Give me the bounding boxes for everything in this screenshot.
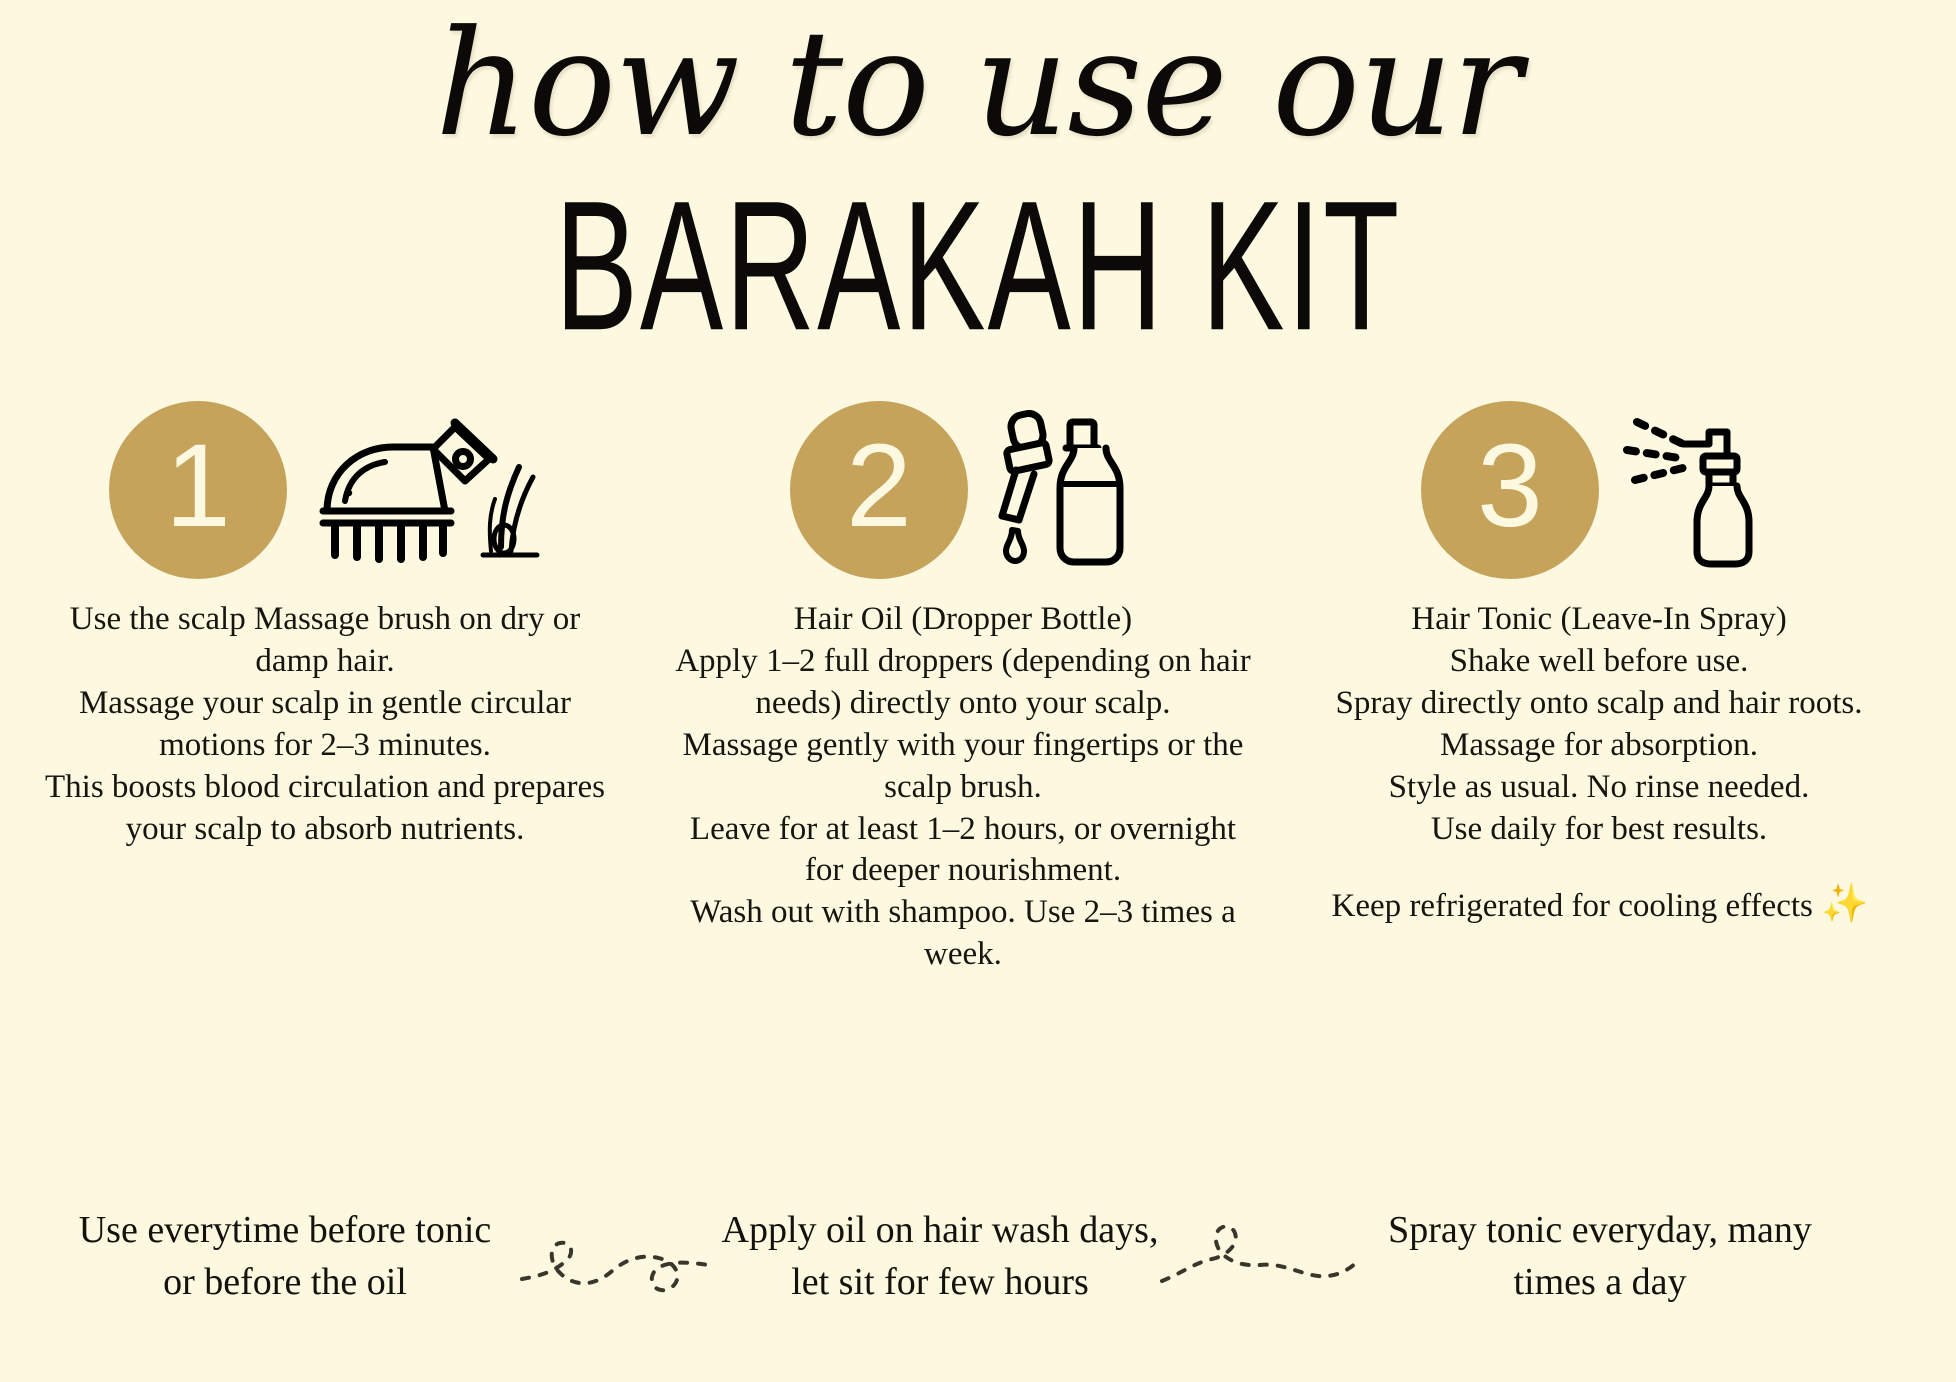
step-column-1: 1 [10,405,640,976]
spray-bottle-icon [1617,410,1777,570]
footer-caption-1: Use everytime before tonic or before the… [75,1205,495,1308]
step-number-badge-3: 3 [1421,401,1599,579]
step-3-body-note: Keep refrigerated for cooling effects ✨ [1310,880,1888,928]
dropper-bottle-icon [986,410,1136,570]
step-1-body: Use the scalp Massage brush on dry or da… [36,599,614,850]
title-script-line: how to use our [0,10,1956,159]
step-column-3: 3 [1284,405,1914,976]
step-1-header: 1 [36,405,614,575]
step-number-label-2: 2 [846,427,912,545]
footer-row: Use everytime before tonic or before the… [0,1205,1956,1365]
step-3-note-text: Keep refrigerated for cooling effects [1332,888,1822,924]
footer-caption-2: Apply oil on hair wash days, let sit for… [710,1205,1170,1308]
sparkles-icon: ✨ [1821,883,1866,925]
step-number-label-3: 3 [1477,427,1543,545]
title-display-line: BARAKAH KIT [39,173,1917,358]
step-number-badge-1: 1 [109,401,287,579]
infographic-page: how to use our BARAKAH KIT 1 [0,0,1956,1382]
step-2-header: 2 [674,405,1252,575]
dotted-squiggle-connector [1160,1219,1360,1314]
step-column-2: 2 [648,405,1278,976]
title-block: how to use our BARAKAH KIT [0,0,1956,303]
step-number-badge-2: 2 [790,401,968,579]
step-3-header: 3 [1310,405,1888,575]
step-2-body: Hair Oil (Dropper Bottle) Apply 1–2 full… [674,599,1252,976]
footer-caption-3: Spray tonic everyday, many times a day [1385,1205,1815,1308]
steps-container: 1 [0,405,1956,976]
step-3-body: Hair Tonic (Leave-In Spray) Shake well b… [1310,599,1888,850]
dotted-squiggle-connector [520,1231,710,1326]
scalp-massage-brush-icon [305,415,541,565]
step-number-label-1: 1 [165,427,231,545]
